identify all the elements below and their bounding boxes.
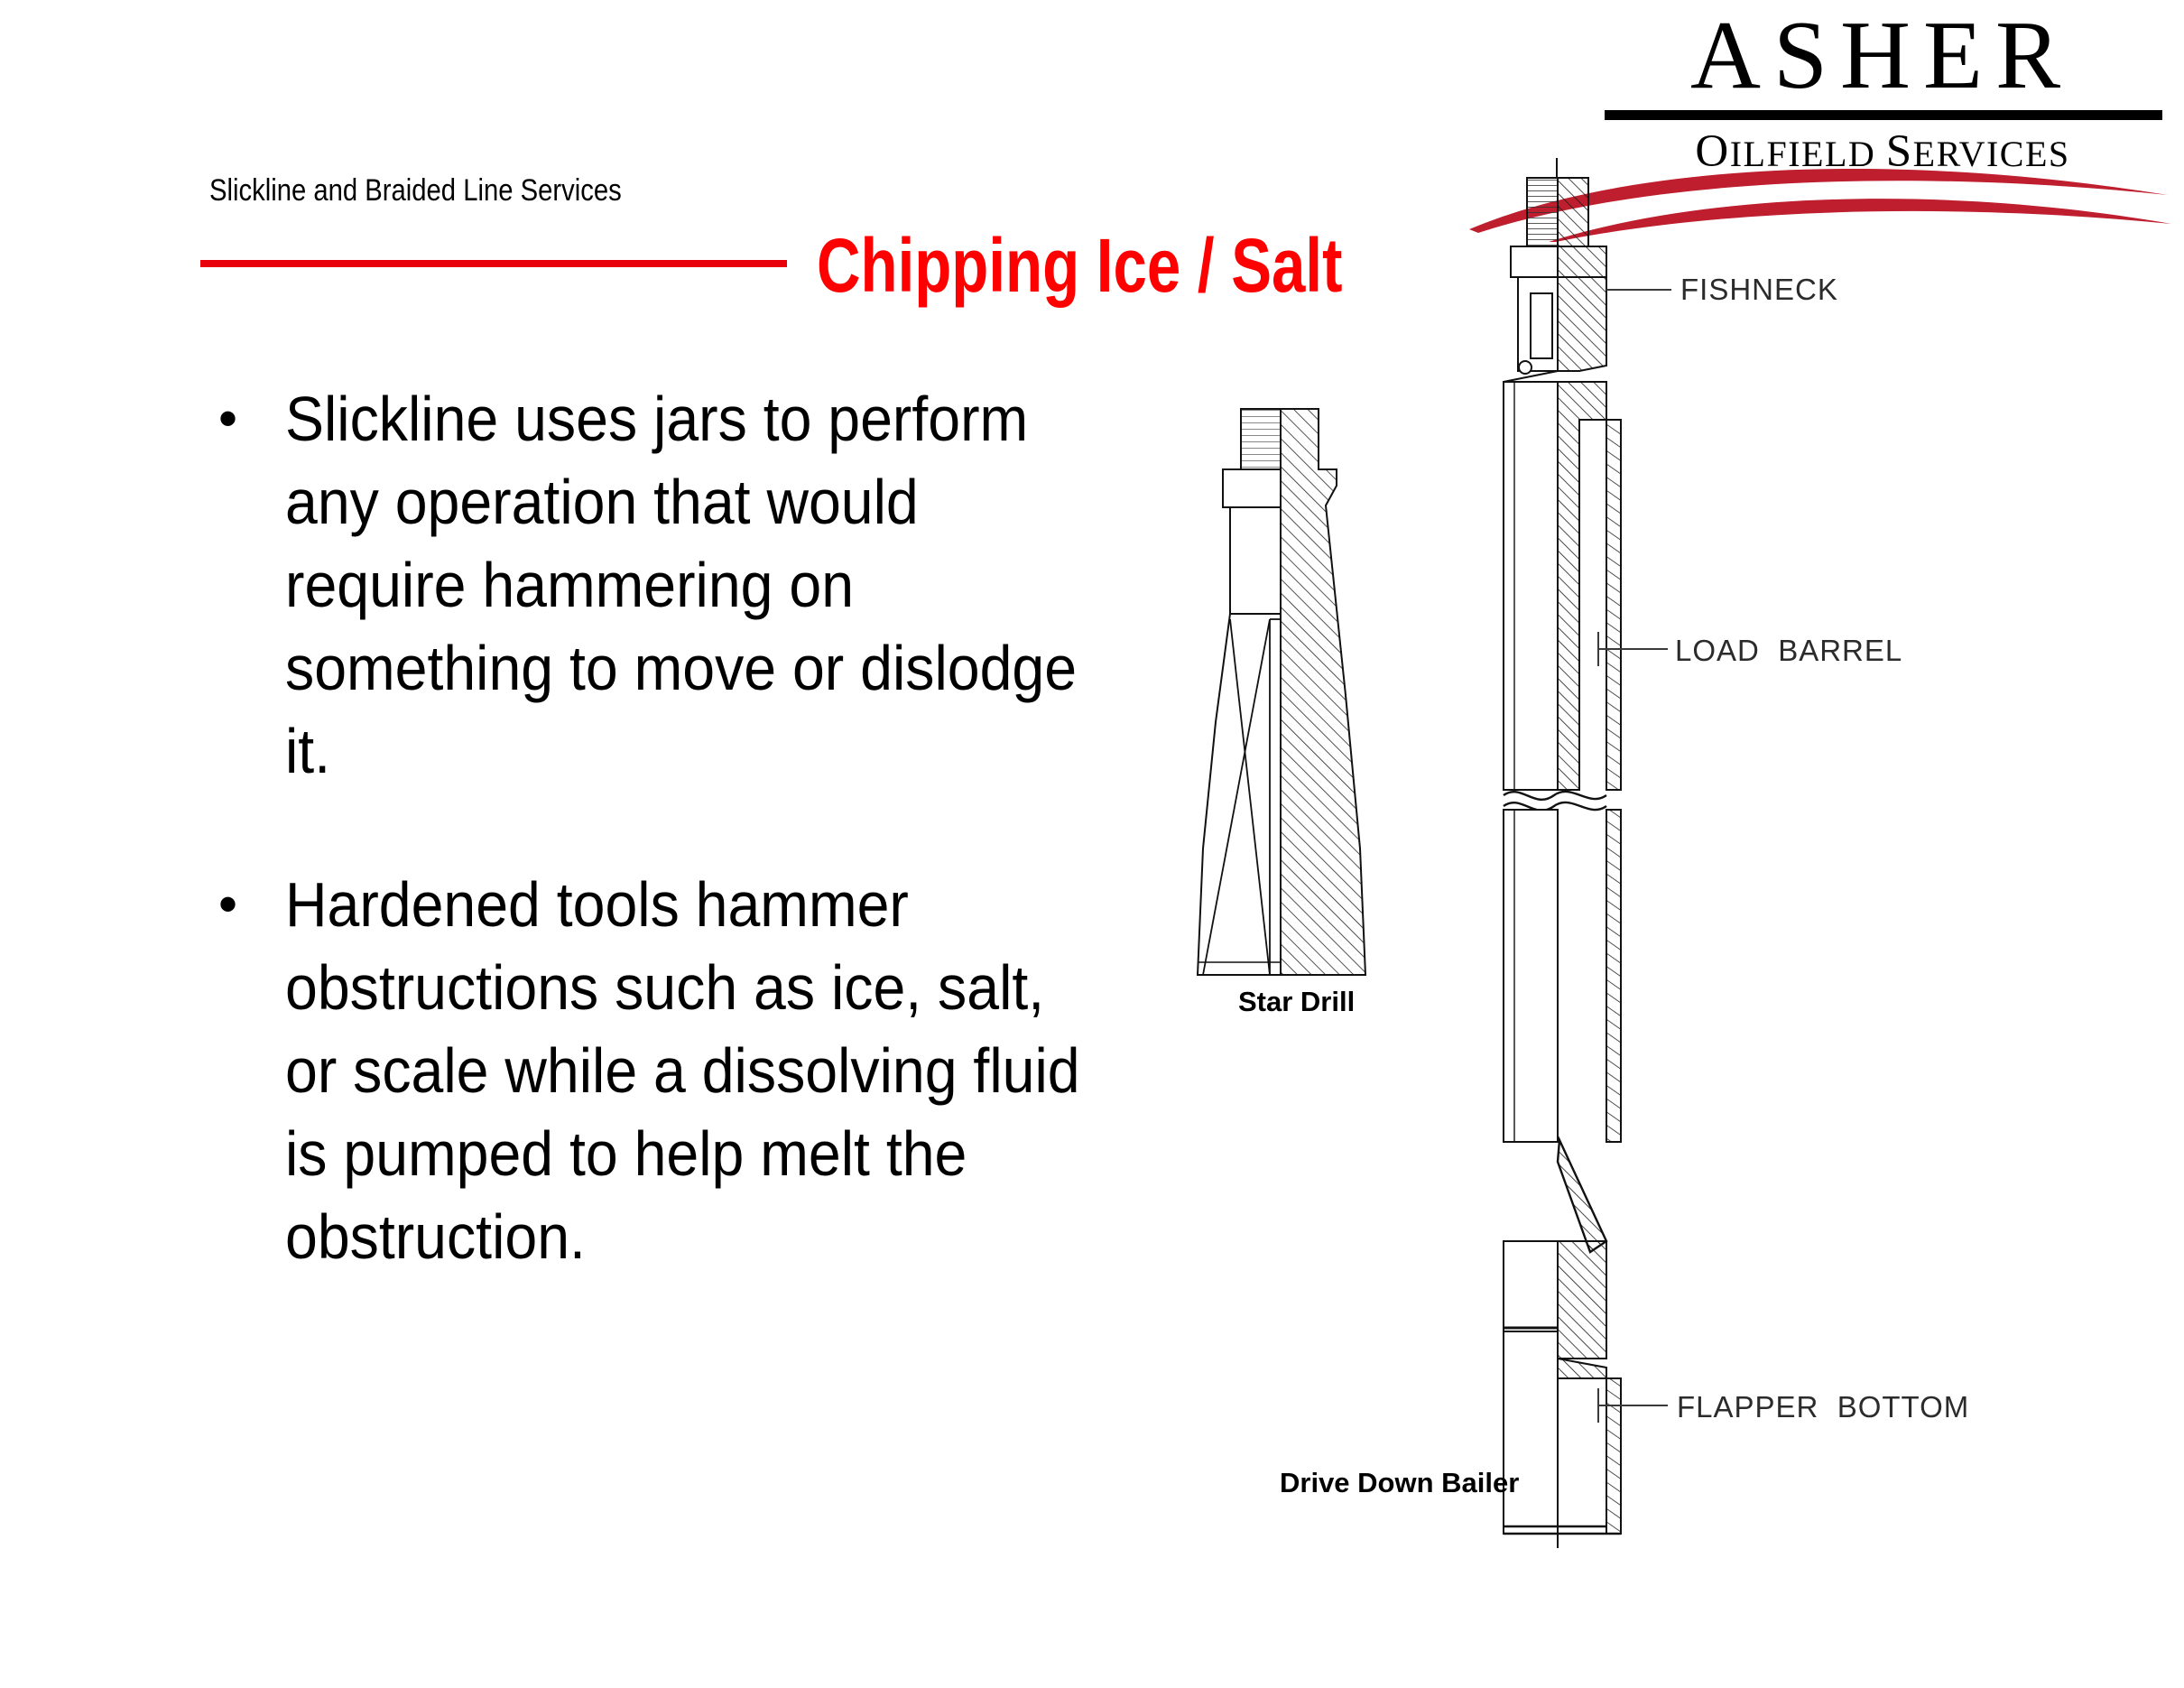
header-divider-rule: [200, 260, 787, 267]
star-drill-diagram: [1169, 397, 1394, 1011]
star-drill-caption: Star Drill: [1238, 986, 1355, 1018]
flapper-bottom-leader-line: [1597, 1405, 1668, 1406]
list-item: • Hardened tools hammer obstructions suc…: [209, 863, 1166, 1278]
page-subtitle: Slickline and Braided Line Services: [209, 173, 622, 209]
fishneck-leader-line: [1606, 289, 1671, 291]
bullet-text: Slickline uses jars to perform any opera…: [285, 377, 1096, 793]
logo-brand-text: ASHER: [1588, 7, 2166, 105]
bullet-list: • Slickline uses jars to perform any ope…: [209, 377, 1166, 1349]
bullet-text: Hardened tools hammer obstructions such …: [285, 863, 1096, 1278]
list-item: • Slickline uses jars to perform any ope…: [209, 377, 1166, 793]
drive-down-bailer-caption: Drive Down Bailer: [1280, 1467, 1519, 1499]
drive-down-bailer-diagram: [1471, 158, 1679, 1553]
logo-divider-rule: [1605, 110, 2162, 120]
callout-label-load-barrel: LOAD BARREL: [1675, 634, 1902, 668]
page-title: Chipping Ice / Salt: [817, 227, 1342, 303]
bullet-marker-icon: •: [209, 377, 285, 460]
slide-canvas: ASHER OILFIELD SERVICES Slickline and Br…: [0, 0, 2184, 1688]
bullet-marker-icon: •: [209, 863, 285, 946]
callout-label-fishneck: FISHNECK: [1680, 273, 1838, 307]
load-barrel-leader-line: [1597, 648, 1668, 650]
callout-label-flapper-bottom: FLAPPER BOTTOM: [1677, 1390, 1969, 1424]
